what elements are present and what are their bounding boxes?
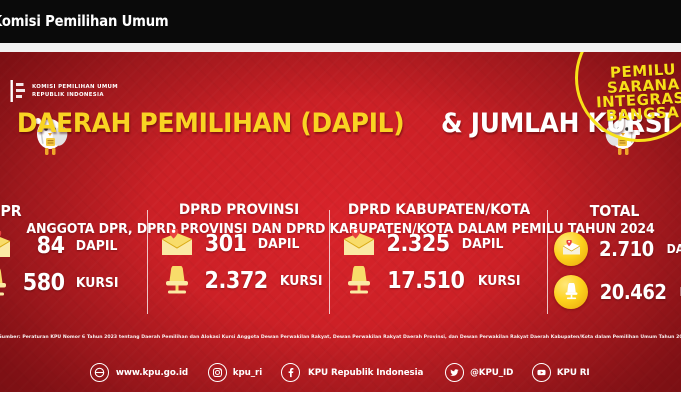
stats-total-dapil-value: 2.710 [599, 237, 654, 261]
stats-column-dpr: DPR 84 DAPIL [0, 200, 148, 322]
social-link-facebook-label: KPU Republik Indonesia [308, 367, 423, 378]
facebook-icon [281, 363, 300, 382]
social-link-facebook[interactable]: KPU Republik Indonesia [281, 363, 426, 382]
kpu-logo-lockup: KOMISI PEMILIHAN UMUM REPUBLIK INDONESIA [10, 80, 118, 102]
stats-provinsi-kursi-value: 2.372 [205, 268, 268, 294]
instagram-icon [208, 363, 227, 382]
screenshot-root: Komisi Pemilihan Umum KOMISI PEMILIHAN U… [0, 0, 681, 400]
map-envelope-icon [342, 229, 376, 259]
poster-title-highlight: DAERAH PEMILIHAN (DAPIL) [17, 108, 404, 139]
stats-kabupaten-dapil-label: DAPIL [462, 236, 504, 252]
stats-provinsi-dapil-label: DAPIL [258, 236, 300, 252]
page-title: Komisi Pemilihan Umum [0, 12, 169, 30]
seat-chair-icon [160, 266, 194, 296]
seat-chair-icon [0, 268, 12, 298]
campaign-badge-line-4: BANGSA [606, 105, 680, 123]
stats-column-total: TOTAL 2.710 DAPIL [548, 200, 681, 322]
stats-kabupaten-kursi-label: KURSI [478, 273, 521, 289]
twitter-icon [445, 363, 464, 382]
stats-column-dpr-heading: DPR [0, 202, 143, 220]
social-link-twitter-label: @KPU_ID [470, 367, 513, 378]
stats-provinsi-dapil-value: 301 [203, 231, 246, 257]
stats-dpr-kursi-label: KURSI [76, 275, 119, 291]
map-envelope-icon [0, 231, 12, 261]
total-kursi-badge [554, 275, 588, 309]
stats-row-provinsi-dapil: 301 DAPIL [148, 225, 330, 262]
kpu-infographic-poster: KOMISI PEMILIHAN UMUM REPUBLIK INDONESIA… [0, 52, 681, 400]
stats-kabupaten-kursi-value: 17.510 [387, 268, 464, 294]
kpu-logo-line-1: KOMISI PEMILIHAN UMUM [32, 84, 118, 91]
stats-total-dapil-label: DAPIL [666, 242, 681, 256]
stats-total-kursi-value: 20.462 [600, 280, 667, 304]
social-link-youtube[interactable]: KPU RI [532, 363, 590, 382]
source-footnote: *Sumber: Peraturan KPU Nomor 6 Tahun 202… [0, 335, 681, 340]
statistics-strip: DPR 84 DAPIL [0, 200, 681, 322]
total-dapil-badge [554, 232, 588, 266]
stats-column-dprd-provinsi: DPRD PROVINSI 301 DAPIL [148, 200, 330, 322]
social-link-website-label: www.kpu.go.id [116, 367, 188, 378]
social-link-youtube-label: KPU RI [557, 367, 590, 378]
stats-row-dpr-kursi: 580 KURSI [0, 264, 148, 301]
social-link-instagram[interactable]: kpu_ri [208, 363, 263, 382]
stats-kabupaten-dapil-value: 2.325 [387, 231, 450, 257]
social-link-instagram-label: kpu_ri [233, 367, 262, 378]
stats-dpr-kursi-value: 580 [21, 270, 64, 296]
stats-column-dprd-provinsi-heading: DPRD PROVINSI [153, 202, 324, 218]
seat-chair-icon [562, 283, 581, 300]
kpu-logo-text: KOMISI PEMILIHAN UMUM REPUBLIK INDONESIA [32, 84, 118, 99]
stats-row-dpr-dapil: 84 DAPIL [0, 227, 148, 264]
seat-chair-icon [342, 266, 376, 296]
map-envelope-icon [160, 229, 194, 259]
stats-row-kabupaten-dapil: 2.325 DAPIL [330, 225, 548, 262]
stats-dpr-dapil-label: DAPIL [76, 238, 118, 254]
stats-row-provinsi-kursi: 2.372 KURSI [148, 262, 330, 299]
social-link-twitter[interactable]: @KPU_ID [445, 363, 514, 382]
campaign-badge: PEMILU SARANA INTEGRASI BANGSA [575, 52, 681, 142]
stats-column-total-heading: TOTAL [552, 202, 677, 220]
browser-top-bar: Komisi Pemilihan Umum [0, 0, 681, 43]
stats-column-dprd-kabupaten-kota: DPRD KABUPATEN/KOTA 2.325 DAPIL [330, 200, 548, 322]
social-link-website[interactable]: www.kpu.go.id [90, 363, 190, 382]
map-envelope-icon [562, 240, 581, 257]
stats-row-kabupaten-kursi: 17.510 KURSI [330, 262, 548, 299]
stats-row-total-dapil: 2.710 DAPIL [548, 227, 681, 270]
poster-bottom-strip [0, 392, 681, 400]
social-links-bar: www.kpu.go.id kpu_ri KPU Republik Indone… [0, 352, 681, 392]
stats-row-total-kursi: 20.462 KURSI [548, 270, 681, 313]
youtube-icon [532, 363, 551, 382]
stats-dpr-dapil-value: 84 [21, 233, 64, 259]
page-background-gap [0, 43, 681, 52]
kpu-logo-icon [10, 80, 26, 102]
kpu-logo-line-2: REPUBLIK INDONESIA [32, 92, 118, 99]
stats-column-dprd-kabupaten-kota-heading: DPRD KABUPATEN/KOTA [337, 202, 542, 218]
stats-provinsi-kursi-label: KURSI [280, 273, 323, 289]
website-icon [90, 363, 109, 382]
